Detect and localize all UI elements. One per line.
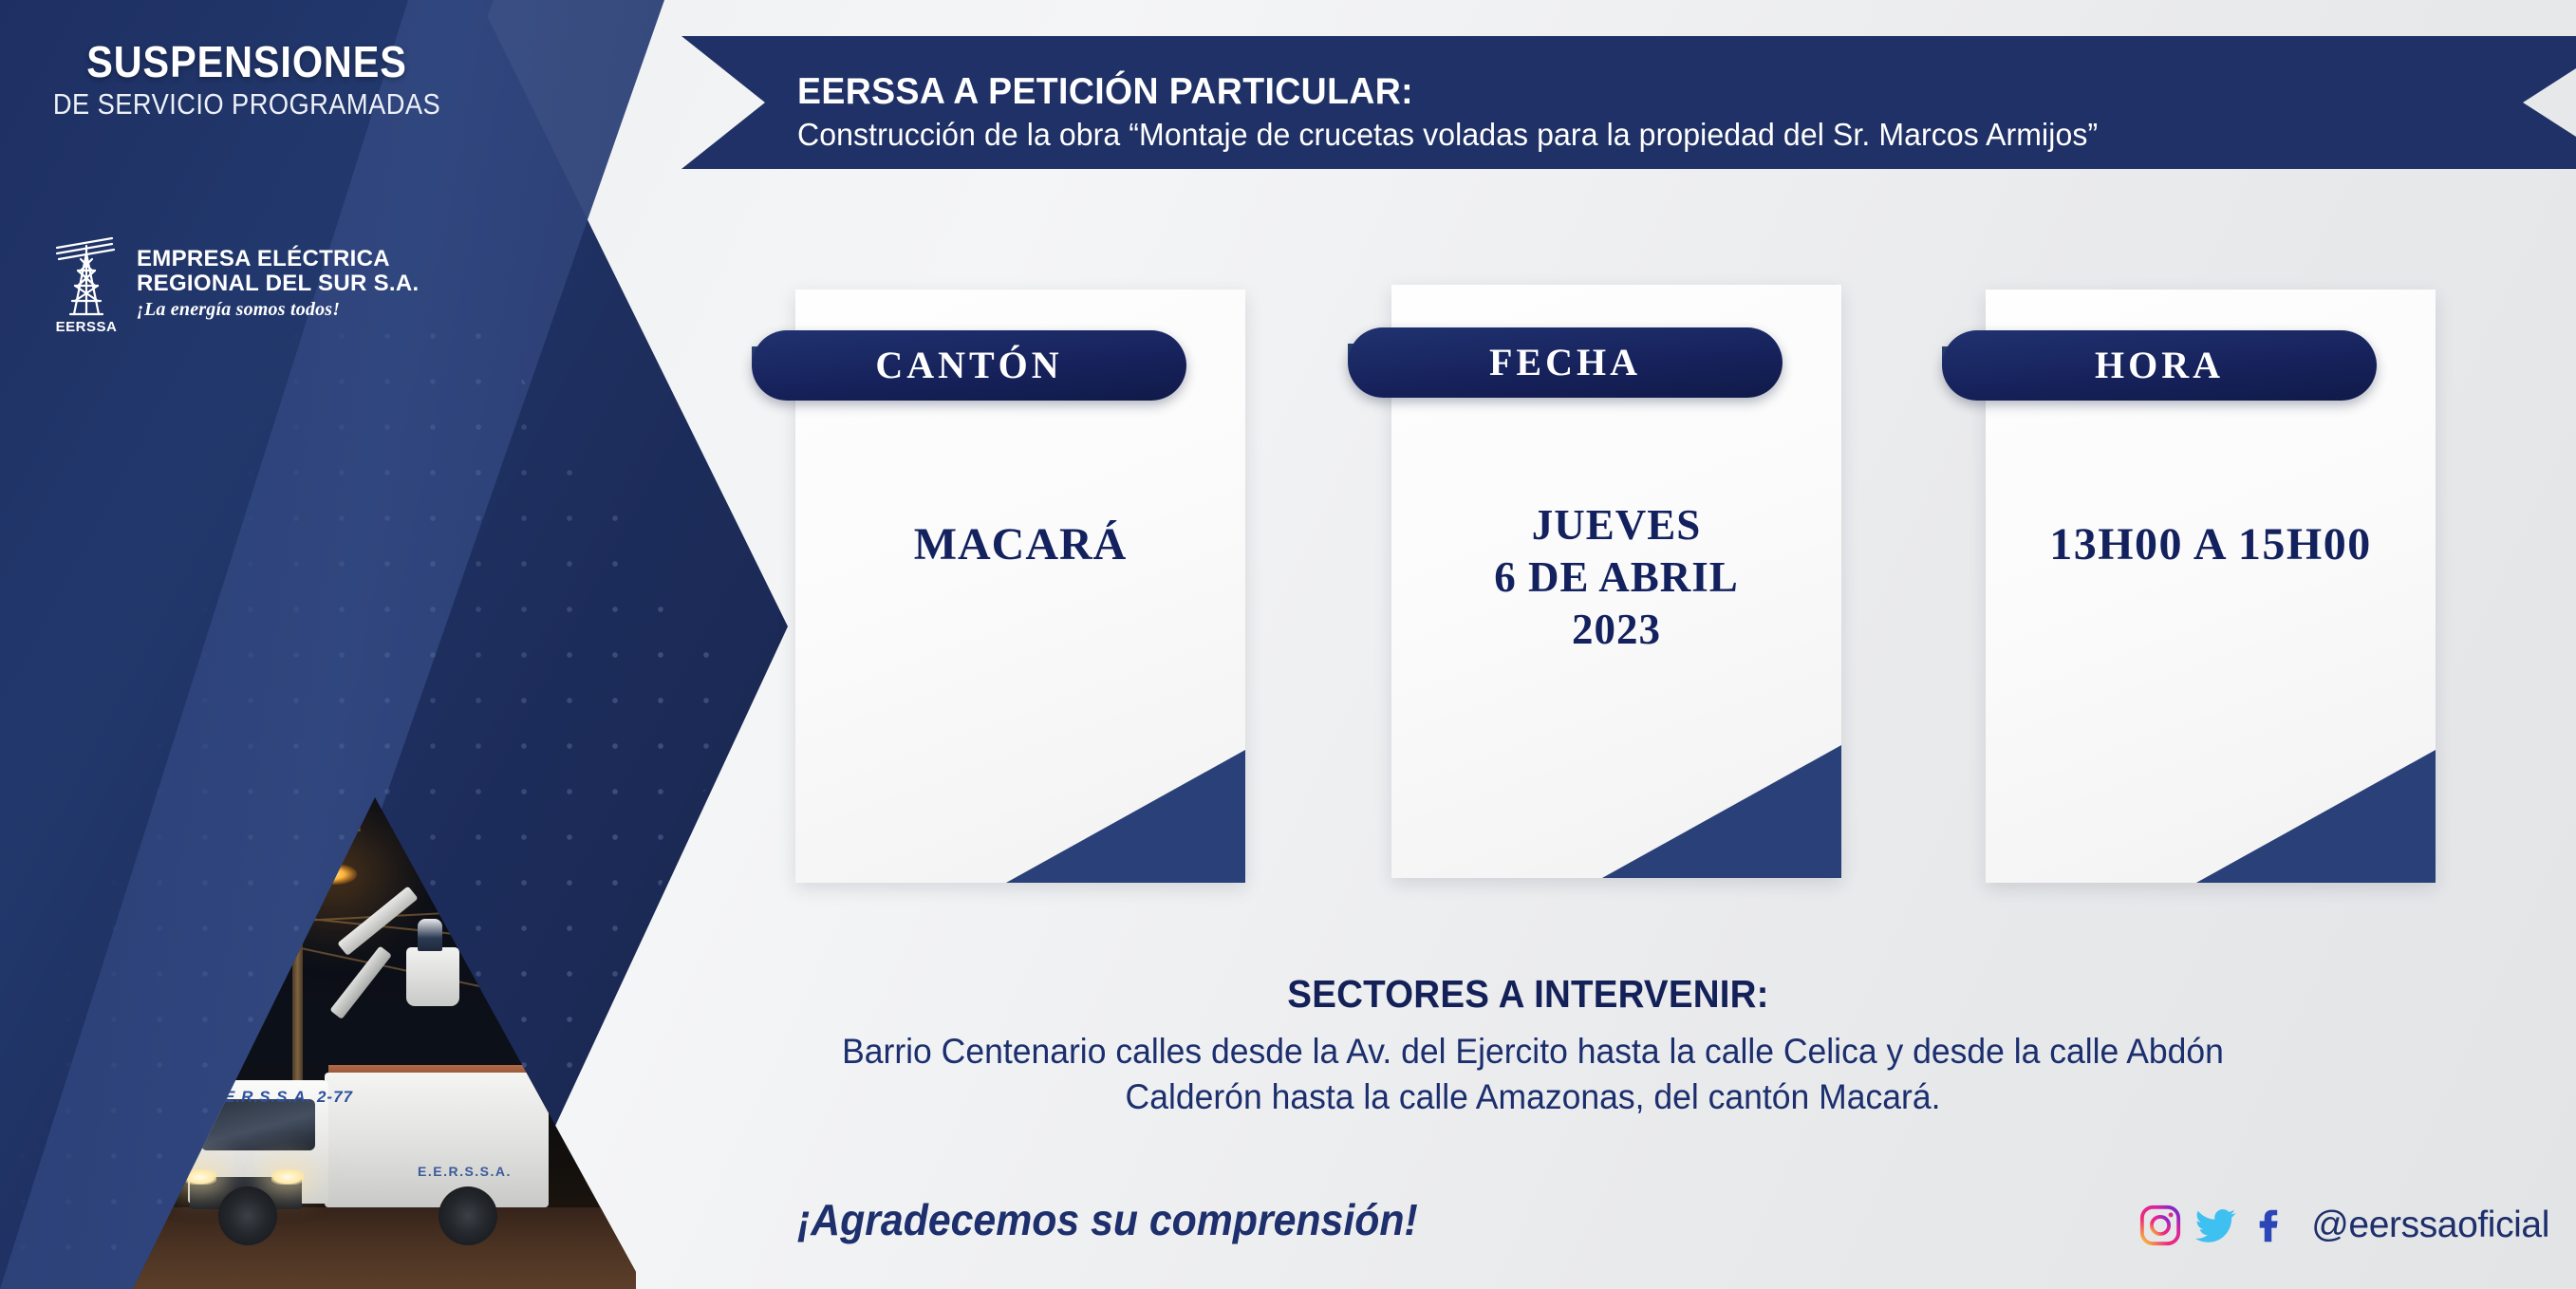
card-fecha-value: JUEVES 6 DE ABRIL 2023 [1391, 499, 1841, 656]
card-fecha-header-label: FECHA [1489, 340, 1641, 384]
card-fecha-line-3: 2023 [1403, 604, 1830, 656]
sectors-title: SECTORES A INTERVENIR: [770, 972, 2287, 1017]
card-hora-value: 13H00 A 15H00 [1955, 517, 2466, 573]
card-fecha-line-1: JUEVES [1403, 499, 1830, 551]
twitter-icon[interactable] [2193, 1204, 2237, 1247]
card-canton-header-pill: CANTÓN [752, 330, 1186, 401]
social-media-bar: @eerssaoficial [2138, 1204, 2549, 1247]
poster-canvas: E.E.R.S.S.A. 2-77 E.E.R.S.S.A. SUSPENSIO… [0, 0, 2576, 1289]
card-corner-fold [1602, 745, 1841, 878]
social-handle[interactable]: @eerssaoficial [2311, 1205, 2549, 1246]
card-hora-header-pill: HORA [1942, 330, 2377, 401]
sectors-line-2: Calderón hasta la calle Amazonas, del ca… [718, 1074, 2348, 1120]
thanks-message: ¡Agradecemos su comprensión! [797, 1194, 1418, 1245]
card-canton-header-label: CANTÓN [875, 343, 1062, 387]
sectors-description: Barrio Centenario calles desde la Av. de… [718, 1029, 2348, 1120]
instagram-icon[interactable] [2138, 1204, 2182, 1247]
facebook-icon[interactable] [2249, 1204, 2292, 1247]
card-hora-header-label: HORA [2095, 343, 2224, 387]
card-fecha-line-2: 6 DE ABRIL [1403, 551, 1830, 604]
card-fecha-header-pill: FECHA [1348, 327, 1783, 398]
sectors-line-1: Barrio Centenario calles desde la Av. de… [718, 1029, 2348, 1074]
card-corner-fold [2196, 750, 2436, 883]
card-canton-value: MACARÁ [795, 517, 1245, 573]
card-corner-fold [1006, 750, 1245, 883]
